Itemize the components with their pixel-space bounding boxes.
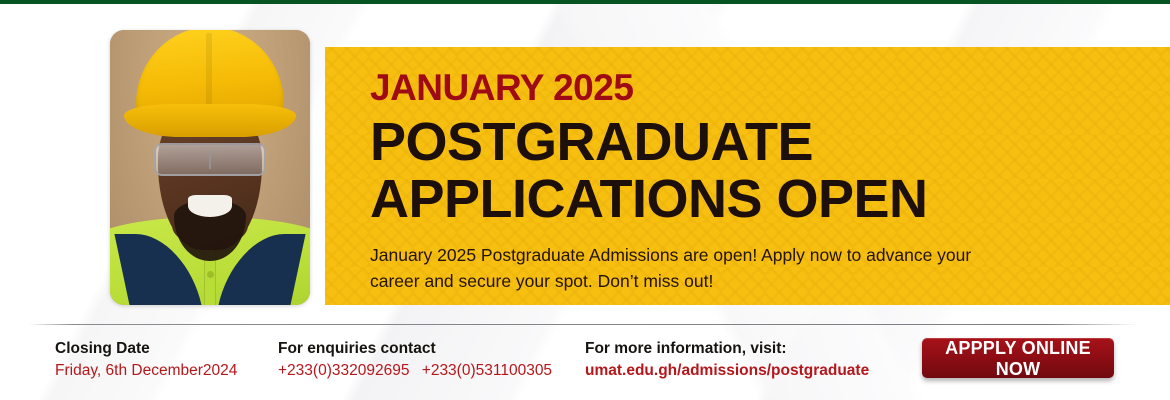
- phone-number-1[interactable]: +233(0)332092695: [278, 362, 409, 379]
- headline-subcopy: January 2025 Postgraduate Admissions are…: [370, 243, 990, 294]
- headline-kicker: JANUARY 2025: [370, 69, 1170, 106]
- hard-hat-rib: [206, 33, 212, 110]
- closing-date-label: Closing Date: [55, 338, 237, 360]
- admissions-url-link[interactable]: umat.edu.gh/admissions/postgraduate: [585, 360, 869, 382]
- enquiries-label: For enquiries contact: [278, 338, 560, 360]
- photo-smile: [188, 195, 232, 217]
- safety-glasses-icon: [154, 143, 266, 176]
- admissions-banner: JANUARY 2025 POSTGRADUATE APPLICATIONS O…: [0, 0, 1170, 400]
- footer-divider: [28, 324, 1138, 325]
- student-portrait-photo: [110, 30, 310, 305]
- more-information-block: For more information, visit: umat.edu.gh…: [585, 338, 869, 382]
- more-information-label: For more information, visit:: [585, 338, 869, 360]
- headline-line-2: APPLICATIONS OPEN: [370, 171, 1170, 228]
- enquiries-block: For enquiries contact +233(0)332092695 +…: [278, 338, 560, 382]
- phone-number-2[interactable]: +233(0)531100305: [422, 362, 552, 379]
- headline-panel: JANUARY 2025 POSTGRADUATE APPLICATIONS O…: [325, 47, 1170, 305]
- headline-line-1: POSTGRADUATE: [370, 114, 1170, 171]
- enquiries-phone-numbers: +233(0)332092695 +233(0)531100305: [278, 360, 560, 382]
- top-accent-rule: [0, 0, 1170, 4]
- headline-text-block: JANUARY 2025 POSTGRADUATE APPLICATIONS O…: [325, 47, 1170, 294]
- closing-date-value: Friday, 6th December2024: [55, 360, 237, 382]
- closing-date-block: Closing Date Friday, 6th December2024: [55, 338, 237, 382]
- hard-hat-brim: [124, 104, 296, 137]
- photo-shirt-button: [207, 271, 214, 278]
- apply-online-now-button[interactable]: APPPLY ONLINE NOW: [922, 338, 1114, 378]
